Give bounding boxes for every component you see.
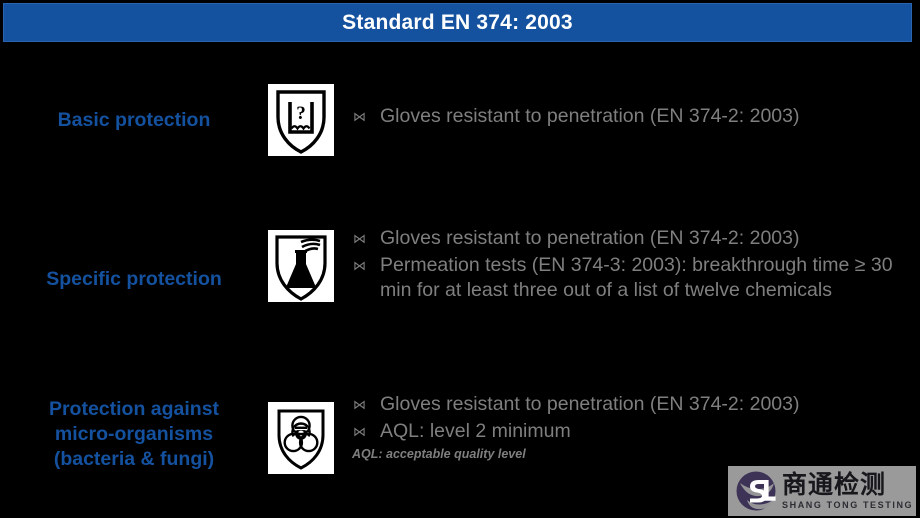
shang-tong-emblem-icon — [734, 469, 778, 513]
category-label-micro-organisms: Protection against micro-organisms (bact… — [14, 397, 254, 472]
bullet-marker-icon: ⋈ — [350, 104, 380, 130]
slide-title-bar: Standard EN 374: 2003 — [3, 3, 912, 42]
logo-chinese-name: 商通检测 — [782, 473, 916, 498]
bullet-marker-icon: ⋈ — [350, 253, 380, 279]
bullet-list-specific-protection: ⋈ Gloves resistant to penetration (EN 37… — [350, 226, 912, 305]
list-item-text: Gloves resistant to penetration (EN 374-… — [380, 392, 912, 418]
category-label-basic-protection: Basic protection — [14, 108, 254, 133]
list-item-text: Gloves resistant to penetration (EN 374-… — [380, 104, 912, 130]
footnote-aql-definition: AQL: acceptable quality level — [350, 446, 912, 463]
bullet-marker-icon: ⋈ — [350, 419, 380, 445]
category-label-specific-protection: Specific protection — [14, 267, 254, 292]
shield-beaker-question-icon: ? — [268, 84, 334, 156]
list-item-text: Permeation tests (EN 374-3: 2003): break… — [380, 253, 912, 304]
bullet-marker-icon: ⋈ — [350, 226, 380, 252]
content-row-basic-protection: Basic protection ? ⋈ Gloves resistant to… — [0, 72, 920, 182]
bullet-list-basic-protection: ⋈ Gloves resistant to penetration (EN 37… — [350, 104, 912, 131]
list-item: ⋈ Gloves resistant to penetration (EN 37… — [350, 392, 912, 418]
list-item: ⋈ AQL: level 2 minimum — [350, 419, 912, 445]
shield-biohazard-icon — [268, 402, 334, 474]
category-label-line: micro-organisms — [14, 422, 254, 447]
list-item: ⋈ Gloves resistant to penetration (EN 37… — [350, 104, 912, 130]
bullet-list-micro-organisms: ⋈ Gloves resistant to penetration (EN 37… — [350, 392, 912, 463]
content-row-specific-protection: Specific protection ⋈ Gloves resistant t… — [0, 222, 920, 352]
logo-english-name: SHANG TONG TESTING — [782, 501, 916, 510]
category-label-line: Protection against — [14, 397, 254, 422]
page-title: Standard EN 374: 2003 — [342, 11, 573, 35]
slide-canvas: Standard EN 374: 2003 Basic protection ?… — [0, 0, 920, 518]
list-item-text: AQL: level 2 minimum — [380, 419, 912, 445]
shield-flask-fumes-icon — [268, 230, 334, 302]
logo-wordmark: 商通检测 SHANG TONG TESTING — [782, 473, 916, 510]
list-item: ⋈ Permeation tests (EN 374-3: 2003): bre… — [350, 253, 912, 304]
bullet-marker-icon: ⋈ — [350, 392, 380, 418]
list-item: ⋈ Gloves resistant to penetration (EN 37… — [350, 226, 912, 252]
category-label-line: (bacteria & fungi) — [14, 447, 254, 472]
company-logo: 商通检测 SHANG TONG TESTING — [728, 466, 916, 516]
svg-text:?: ? — [296, 103, 306, 124]
list-item-text: Gloves resistant to penetration (EN 374-… — [380, 226, 912, 252]
